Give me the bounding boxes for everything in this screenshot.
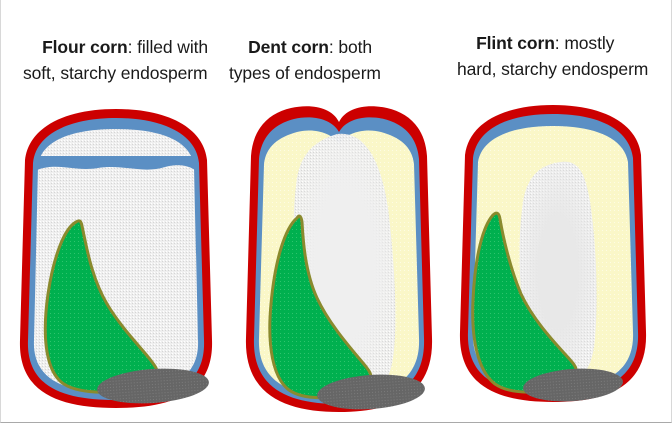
- caption-flour-corn: Flour corn: filled with soft, starchy en…: [23, 8, 213, 112]
- kind-label-flour-corn: Flour corn: [42, 37, 128, 57]
- kernel-diagram-flint-corn: [453, 100, 653, 410]
- caption-separator-flint: :: [555, 33, 565, 53]
- kind-label-flint-corn: Flint corn: [476, 33, 555, 53]
- caption-flint-corn: Flint corn: mostly hard, starchy endospe…: [457, 4, 657, 108]
- diagram-canvas: Flour corn: filled with soft, starchy en…: [1, 0, 672, 423]
- kernel-diagram-flour-corn: [13, 104, 219, 416]
- kind-label-dent-corn: Dent corn: [248, 37, 329, 57]
- caption-separator-dent: :: [329, 37, 339, 57]
- caption-dent-corn: Dent corn: both types of endosperm: [229, 8, 409, 112]
- kernel-diagram-dent-corn: [239, 100, 439, 418]
- caption-separator-flour: :: [128, 37, 138, 57]
